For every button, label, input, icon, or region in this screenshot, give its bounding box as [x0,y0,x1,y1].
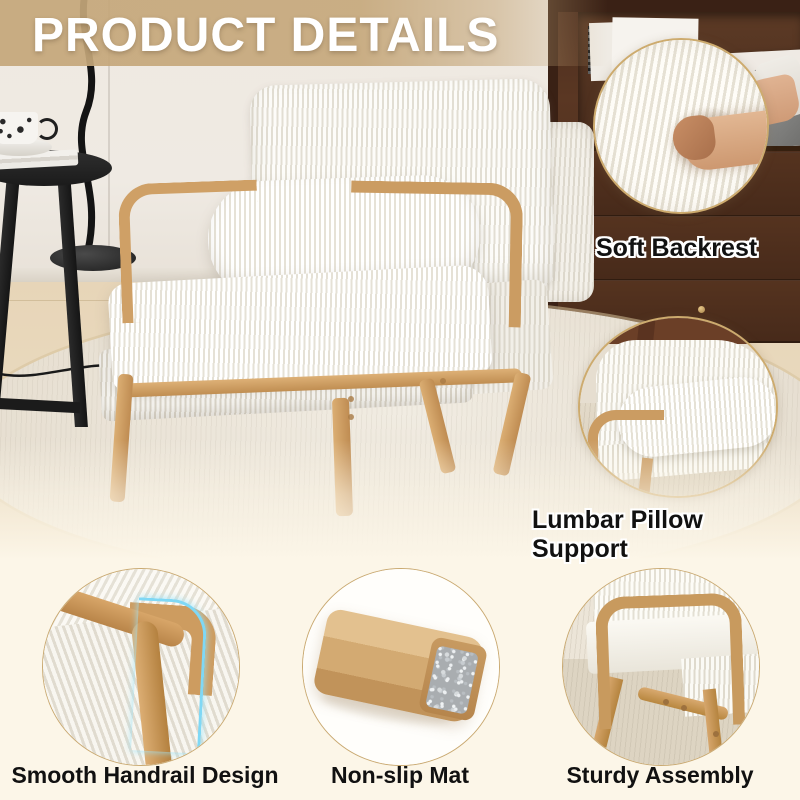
frame-dowel [681,705,687,711]
frame-dowel [663,699,669,705]
frame-dowel [348,396,354,402]
page-title: PRODUCT DETAILS [32,8,499,63]
feature-row [0,540,800,800]
feature-label-non-slip-mat: Non-slip Mat [290,762,510,789]
drawer-knob [698,306,705,313]
product-details-infographic: FOLLOW [0,0,800,800]
curve-highlight-icon [131,597,208,753]
frame-dowel [440,378,446,384]
callout-label-soft-backrest: Soft Backrest [596,234,757,263]
feature-image-smooth-handrail-design [42,568,240,766]
arm-frame-closeup [595,592,746,729]
feature-image-non-slip-mat [302,568,500,766]
chair-rear-arm-frame [349,181,523,328]
feature-label-smooth-handrail-design: Smooth Handrail Design [0,762,290,789]
accent-chair [100,78,570,478]
feature-image-sturdy-assembly [562,568,760,766]
cup-handle [36,118,58,140]
frame-dowel [348,414,354,420]
cup-pattern [0,112,38,144]
coffee-cup [0,112,38,144]
feature-label-sturdy-assembly: Sturdy Assembly [520,762,800,789]
frame-dowel [713,731,719,737]
callout-label-lumbar-pillow-support: Lumbar Pillow Support [532,506,800,564]
chair-front-arm-frame [118,180,262,324]
